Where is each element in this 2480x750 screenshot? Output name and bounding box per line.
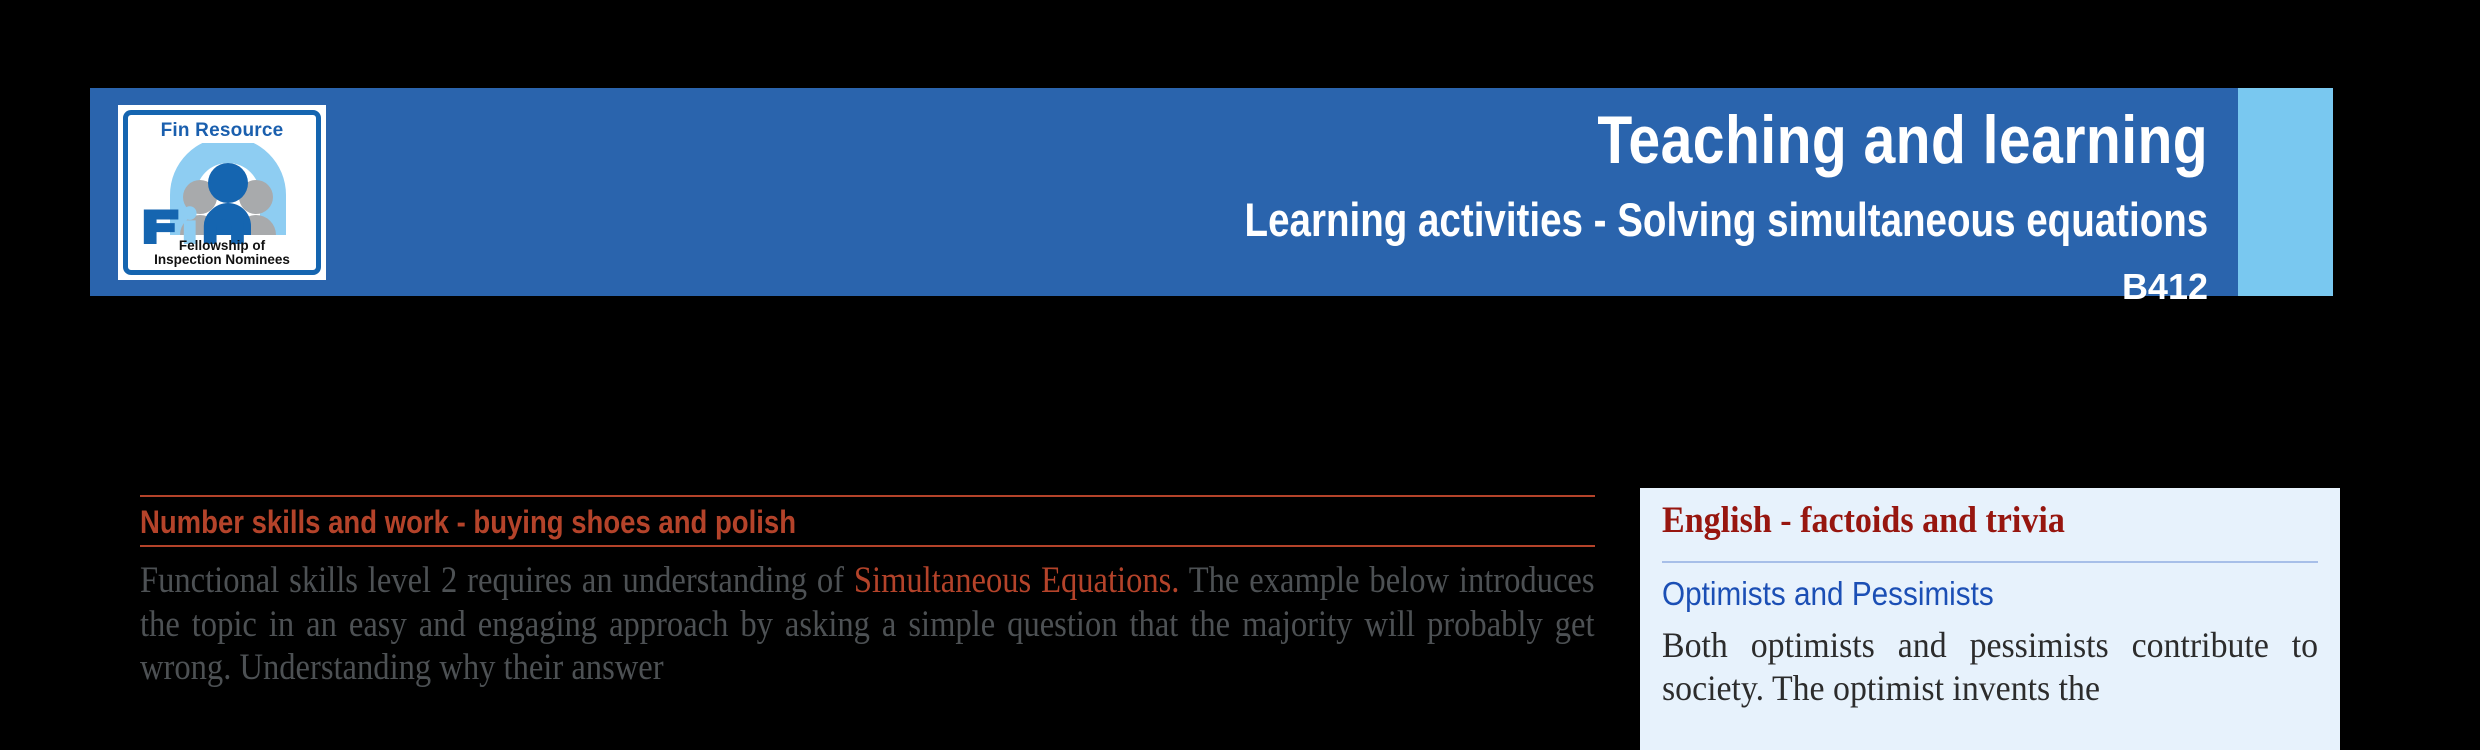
side-panel-title: English - factoids and trivia: [1662, 502, 2266, 539]
page-subtitle: Learning activities - Solving simultaneo…: [1244, 196, 2208, 243]
main-body-keyword: Simultaneous Equations.: [854, 560, 1180, 601]
page-header-bar: Fin Resource: [90, 88, 2333, 296]
side-panel-body: Both optimists and pessimists contribute…: [1662, 624, 2318, 710]
logo-footer-text: Fellowship of Inspection Nominees: [128, 239, 316, 267]
logo-frame: Fin Resource: [123, 110, 321, 275]
logo-footer-line-1: Fellowship of: [128, 239, 316, 253]
side-panel-subtitle: Optimists and Pessimists: [1662, 577, 2252, 610]
header-accent-stripe: [2238, 88, 2333, 296]
logo-footer-line-2: Inspection Nominees: [128, 253, 316, 267]
main-body-paragraph: Functional skills level 2 requires an un…: [140, 559, 1595, 690]
english-factoids-panel: English - factoids and trivia Optimists …: [1640, 488, 2340, 750]
header-text-block: Teaching and learning Learning activitie…: [350, 88, 2208, 296]
main-body-text-before: Functional skills level 2 requires an un…: [140, 560, 854, 601]
main-heading-rule-bottom: [140, 545, 1595, 547]
main-section-heading: Number skills and work - buying shoes an…: [140, 497, 1391, 545]
side-panel-rule: [1662, 561, 2318, 563]
page-title: Teaching and learning: [1597, 106, 2208, 174]
logo-title: Fin Resource: [128, 120, 316, 142]
fin-resource-logo: Fin Resource: [118, 105, 326, 280]
document-code-badge: B412: [2122, 269, 2208, 305]
main-content-column: Number skills and work - buying shoes an…: [140, 495, 1595, 727]
